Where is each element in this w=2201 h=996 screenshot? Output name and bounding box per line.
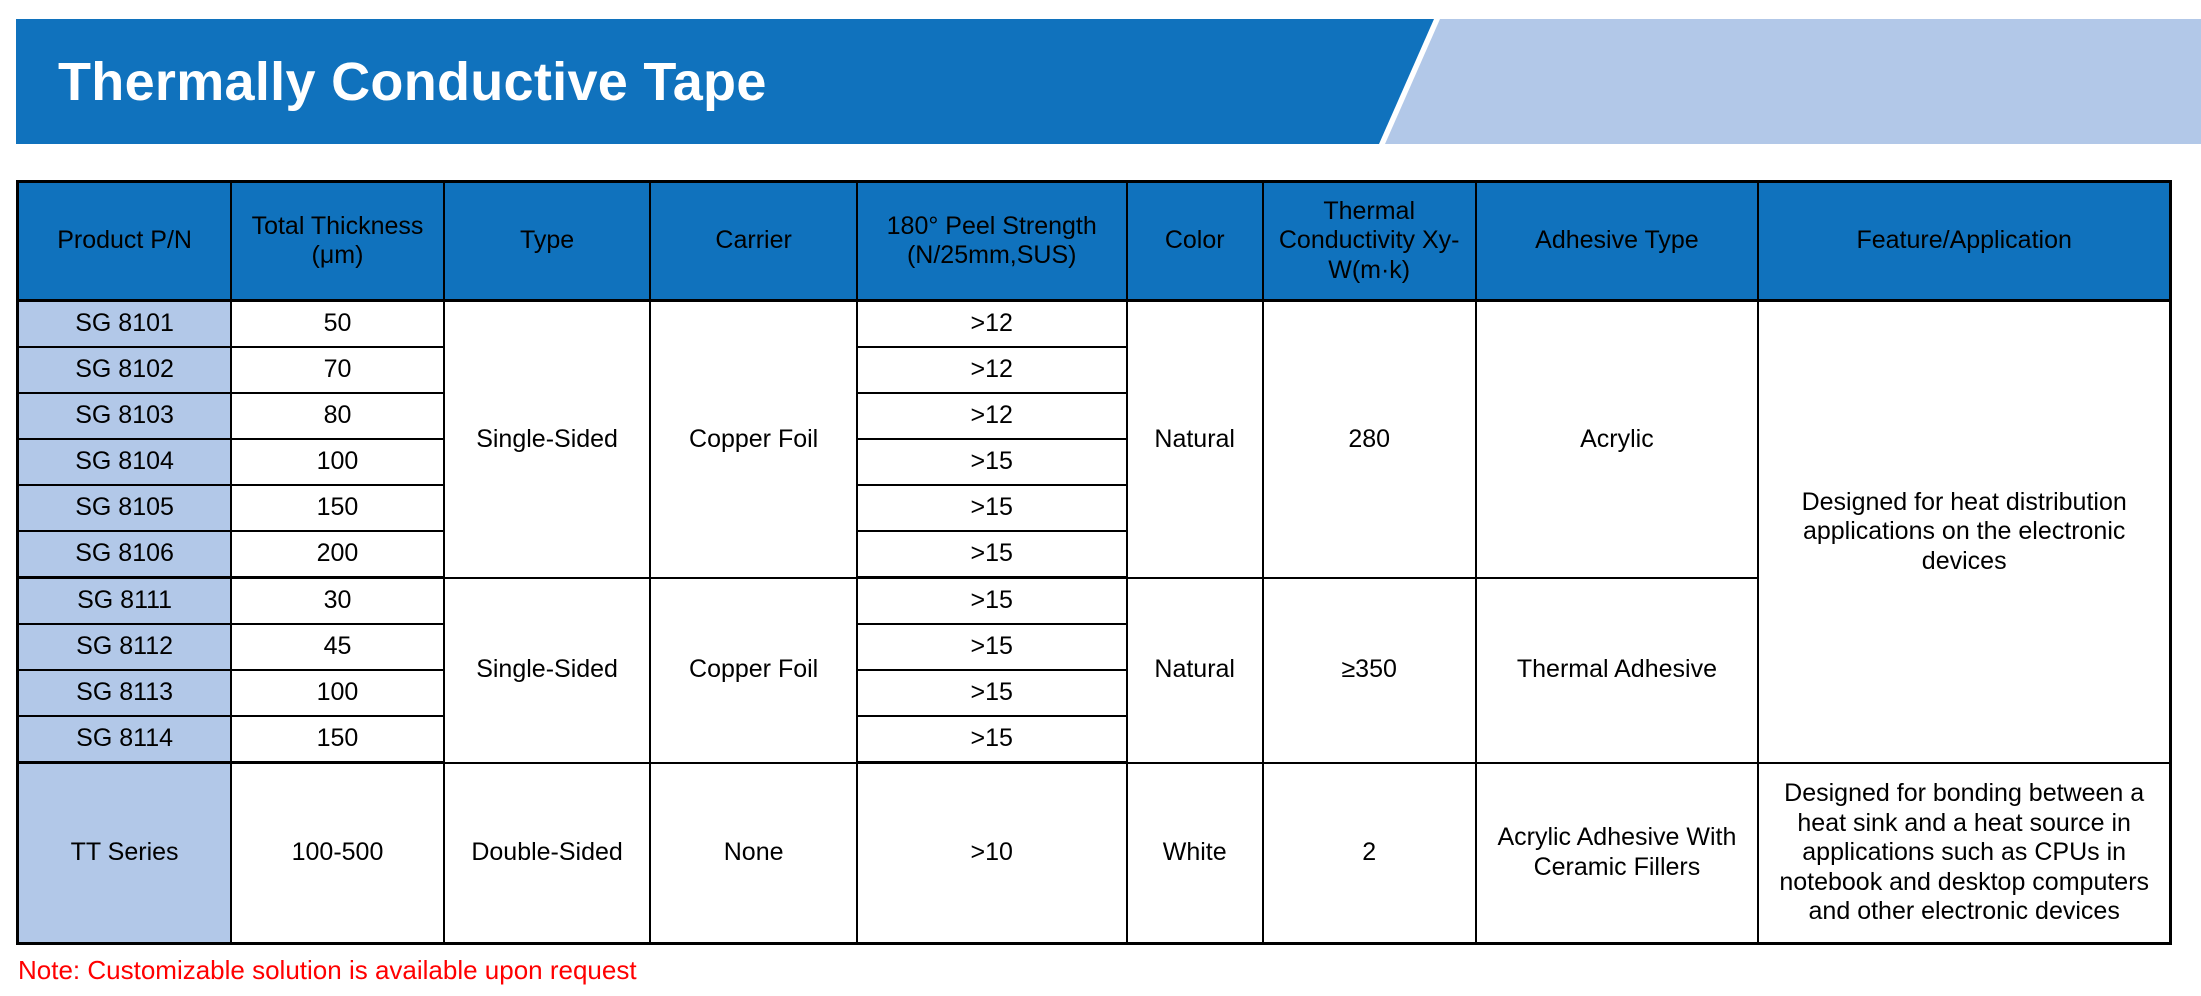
col-header-thermal-conductivity: Thermal Conductivity Xy- W(m·k) (1263, 182, 1476, 301)
page-banner: Thermally Conductive Tape (0, 0, 2201, 152)
cell-type: Double-Sided (444, 763, 651, 944)
col-header-color: Color (1127, 182, 1263, 301)
cell-product-pn: SG 8111 (18, 578, 232, 625)
cell-carrier: Copper Foil (650, 578, 857, 763)
cell-peel: >15 (857, 485, 1127, 531)
cell-feature-application: Designed for bonding between a heat sink… (1758, 763, 2170, 944)
cell-product-pn: SG 8104 (18, 439, 232, 485)
cell-product-pn: SG 8106 (18, 531, 232, 578)
cell-thickness: 200 (231, 531, 444, 578)
cell-conductivity: 2 (1263, 763, 1476, 944)
cell-feature-application: Designed for heat distribution applicati… (1758, 301, 2170, 763)
cell-peel: >15 (857, 624, 1127, 670)
table-header-row: Product P/N Total Thickness (μm) Type Ca… (18, 182, 2171, 301)
cell-product-pn: SG 8113 (18, 670, 232, 716)
table-row: TT Series 100-500 Double-Sided None >10 … (18, 763, 2171, 944)
cell-peel: >15 (857, 670, 1127, 716)
page-title: Thermally Conductive Tape (58, 51, 767, 113)
cell-peel: >12 (857, 393, 1127, 439)
cell-product-pn: SG 8114 (18, 716, 232, 763)
cell-thickness: 70 (231, 347, 444, 393)
cell-peel: >15 (857, 578, 1127, 625)
cell-color: Natural (1127, 301, 1263, 578)
cell-product-pn: TT Series (18, 763, 232, 944)
col-header-feature-application: Feature/Application (1758, 182, 2170, 301)
cell-carrier: Copper Foil (650, 301, 857, 578)
cell-product-pn: SG 8105 (18, 485, 232, 531)
note-text: Note: Customizable solution is available… (18, 955, 637, 986)
table-row: SG 8101 50 Single-Sided Copper Foil >12 … (18, 301, 2171, 348)
cell-type: Single-Sided (444, 578, 651, 763)
cell-product-pn: SG 8112 (18, 624, 232, 670)
cell-adhesive: Acrylic Adhesive With Ceramic Fillers (1476, 763, 1759, 944)
cell-thickness: 150 (231, 716, 444, 763)
cell-conductivity: ≥350 (1263, 578, 1476, 763)
cell-product-pn: SG 8103 (18, 393, 232, 439)
cell-thickness: 100 (231, 670, 444, 716)
spec-table-container: Product P/N Total Thickness (μm) Type Ca… (16, 180, 2172, 945)
cell-peel: >12 (857, 347, 1127, 393)
banner-dark-shape: Thermally Conductive Tape (16, 19, 1434, 144)
col-header-adhesive-type: Adhesive Type (1476, 182, 1759, 301)
col-header-peel-strength: 180° Peel Strength (N/25mm,SUS) (857, 182, 1127, 301)
cell-peel: >10 (857, 763, 1127, 944)
cell-peel: >15 (857, 439, 1127, 485)
cell-adhesive: Thermal Adhesive (1476, 578, 1759, 763)
col-header-type: Type (444, 182, 651, 301)
cell-thickness: 80 (231, 393, 444, 439)
cell-thickness: 100 (231, 439, 444, 485)
cell-thickness: 45 (231, 624, 444, 670)
cell-product-pn: SG 8102 (18, 347, 232, 393)
banner-light-shape (1385, 19, 2201, 144)
col-header-total-thickness: Total Thickness (μm) (231, 182, 444, 301)
cell-thickness: 150 (231, 485, 444, 531)
cell-type: Single-Sided (444, 301, 651, 578)
col-header-carrier: Carrier (650, 182, 857, 301)
cell-color: White (1127, 763, 1263, 944)
specification-table: Product P/N Total Thickness (μm) Type Ca… (16, 180, 2172, 945)
cell-peel: >12 (857, 301, 1127, 348)
cell-adhesive: Acrylic (1476, 301, 1759, 578)
cell-thickness: 100-500 (231, 763, 444, 944)
col-header-product-pn: Product P/N (18, 182, 232, 301)
cell-peel: >15 (857, 716, 1127, 763)
cell-thickness: 30 (231, 578, 444, 625)
cell-product-pn: SG 8101 (18, 301, 232, 348)
cell-color: Natural (1127, 578, 1263, 763)
cell-thickness: 50 (231, 301, 444, 348)
cell-peel: >15 (857, 531, 1127, 578)
cell-carrier: None (650, 763, 857, 944)
cell-conductivity: 280 (1263, 301, 1476, 578)
